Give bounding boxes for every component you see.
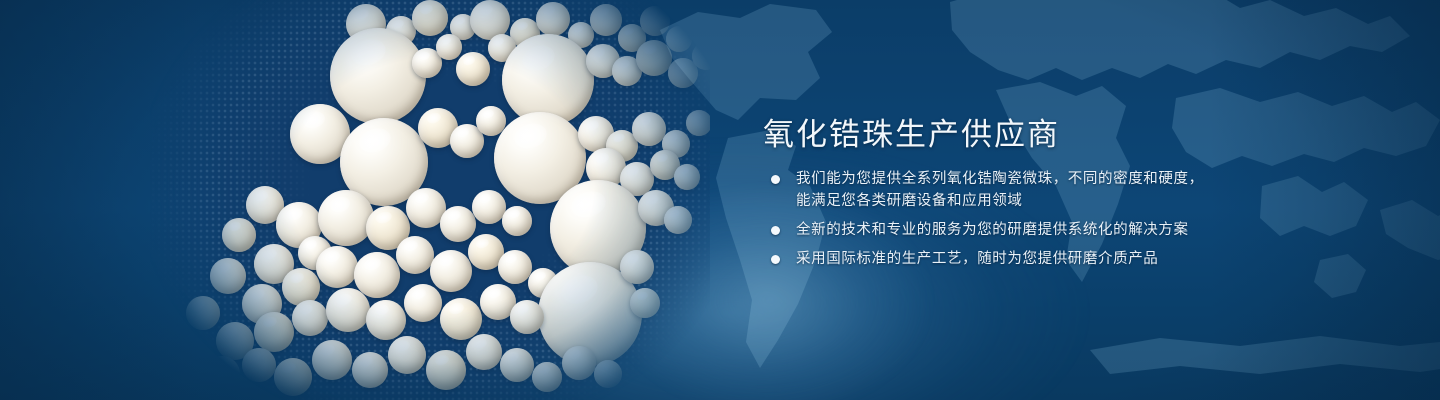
hero-banner: 氧化锆珠生产供应商 我们能为您提供全系列氧化锆陶瓷微珠，不同的密度和硬度， 能满… [0,0,1440,400]
vignette-overlay [0,0,1440,400]
